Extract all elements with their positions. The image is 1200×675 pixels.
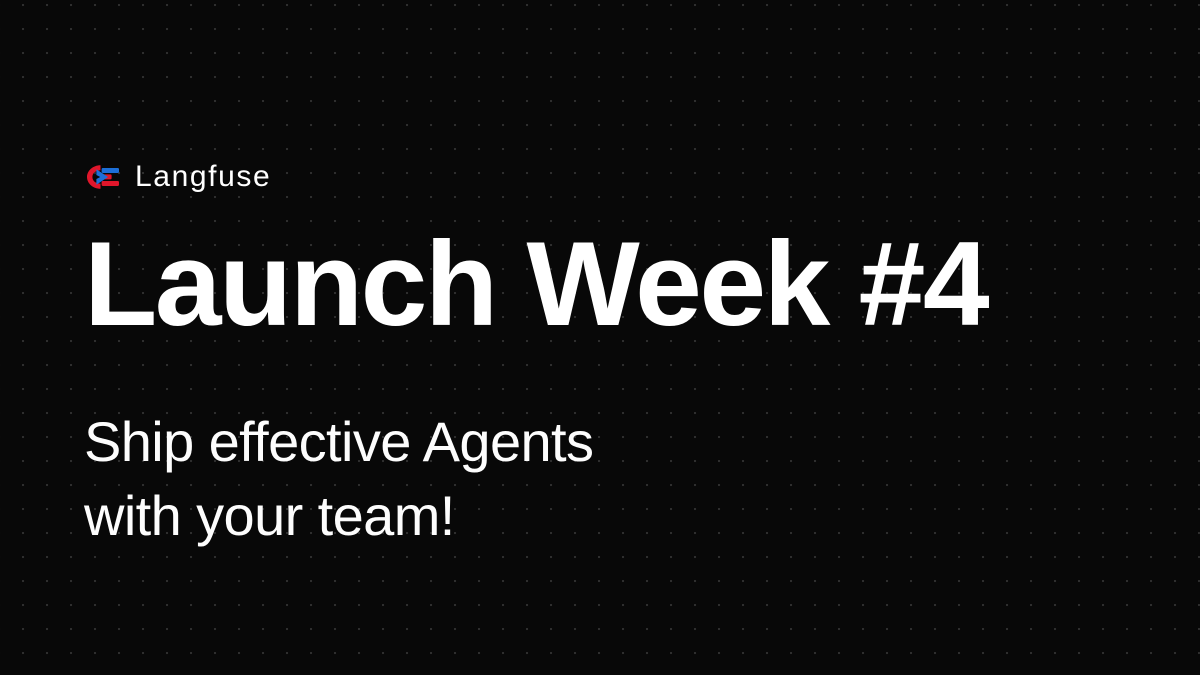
brand-lockup: Langfuse — [84, 157, 271, 197]
page-title: Launch Week #4 — [84, 224, 987, 344]
page-subtitle: Ship effective Agents with your team! — [84, 405, 593, 553]
langfuse-logo-icon — [84, 163, 122, 191]
launch-week-banner: Langfuse Launch Week #4 Ship effective A… — [0, 0, 1200, 675]
brand-name-label: Langfuse — [135, 162, 271, 192]
banner-content: Langfuse Launch Week #4 Ship effective A… — [84, 0, 1124, 675]
subtitle-line-1: Ship effective Agents — [84, 405, 593, 479]
subtitle-line-2: with your team! — [84, 479, 593, 553]
